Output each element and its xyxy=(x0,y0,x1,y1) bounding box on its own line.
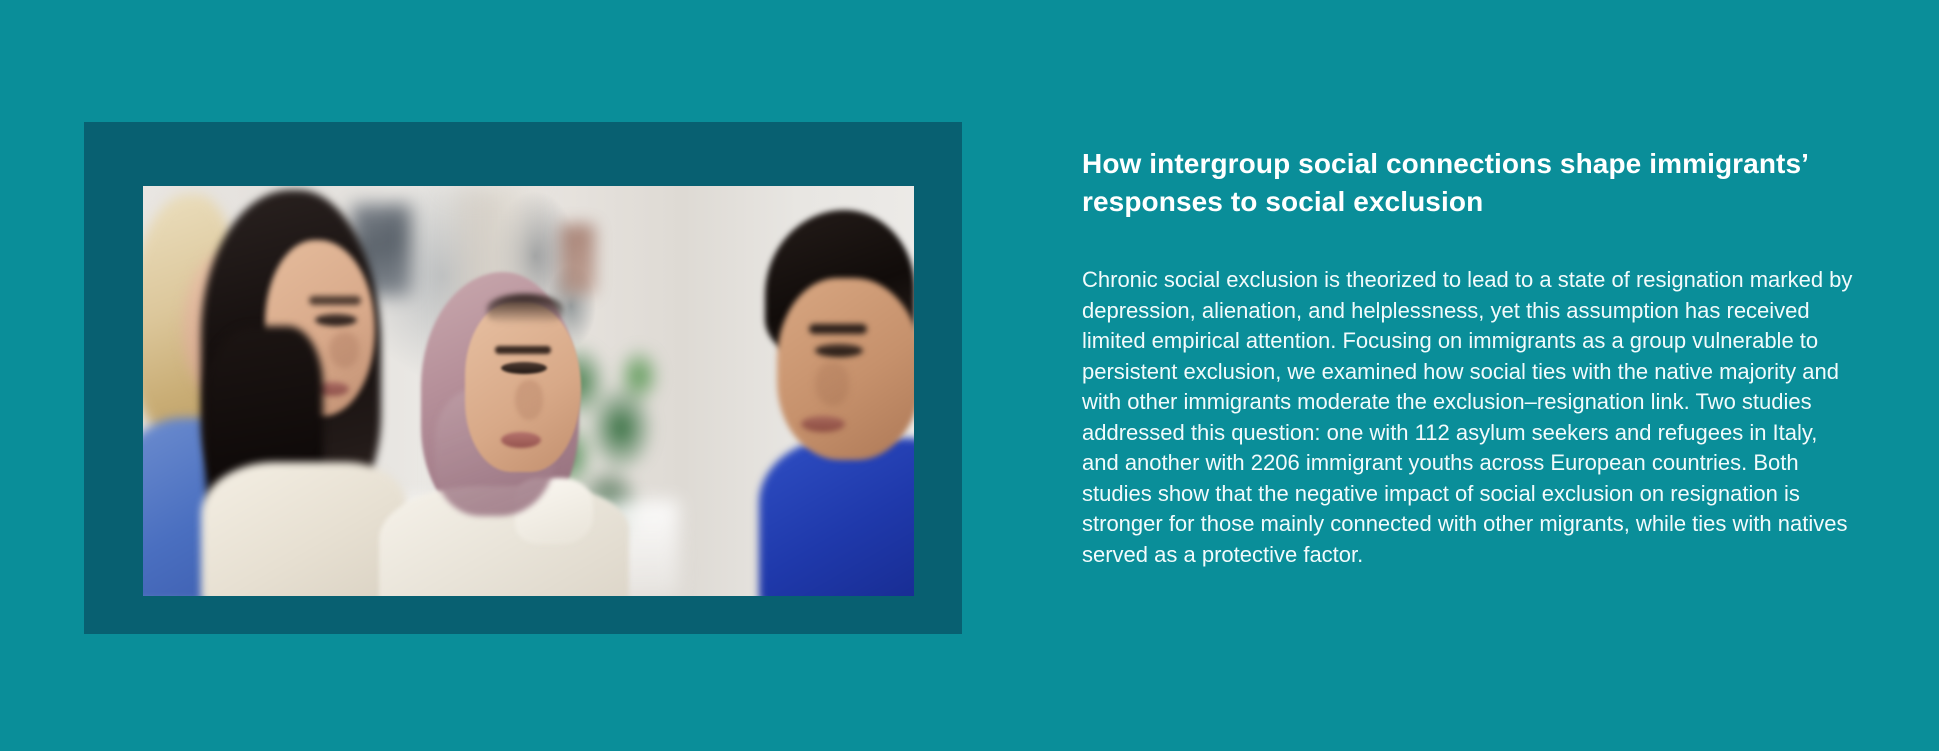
article-abstract: Chronic social exclusion is theorized to… xyxy=(1082,265,1860,570)
image-frame xyxy=(84,122,962,634)
person-dark-hair-body xyxy=(201,462,407,596)
article-photo xyxy=(143,186,914,596)
person-man-lips xyxy=(801,416,845,432)
article-title: How intergroup social connections shape … xyxy=(1082,145,1842,221)
person-hijab-nose xyxy=(515,380,543,420)
person-hijab-brow xyxy=(495,346,551,354)
page-root: { "page": { "background_color": "#0a8e99… xyxy=(0,0,1939,751)
person-hijab-eye xyxy=(501,362,547,374)
person-dark-hair-eye xyxy=(315,314,357,326)
person-dark-hair-brow xyxy=(309,296,361,305)
photo-background xyxy=(143,186,914,596)
person-man-eye xyxy=(815,344,863,357)
person-hijab-lips xyxy=(501,432,541,448)
person-man-brow xyxy=(809,324,867,334)
background-wall-art-small xyxy=(561,224,595,294)
person-dark-hair-nose xyxy=(329,332,359,368)
person-man-body xyxy=(759,438,914,596)
person-man-nose xyxy=(815,362,849,406)
article-text-column: How intergroup social connections shape … xyxy=(1082,145,1864,570)
person-hijab-hairline xyxy=(487,294,563,324)
